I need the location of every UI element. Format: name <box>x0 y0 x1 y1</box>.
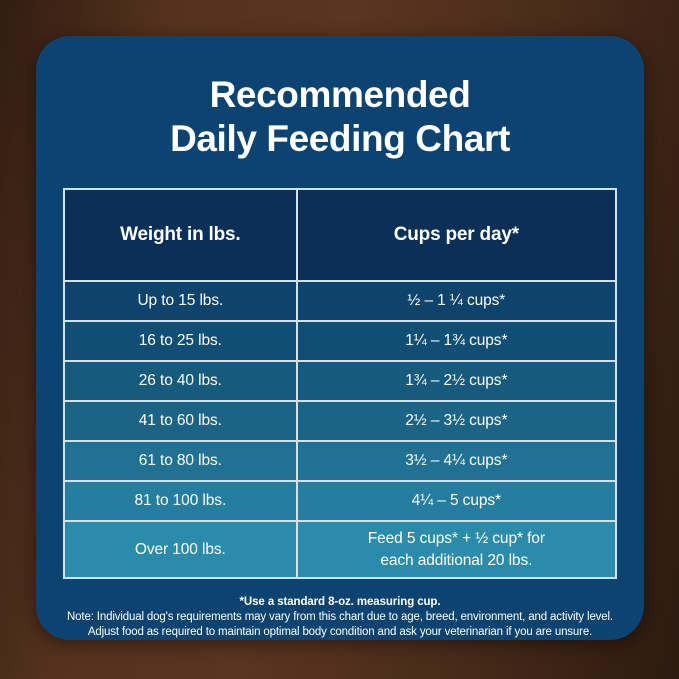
feeding-table: Weight in lbs. Cups per day* Up to 15 lb… <box>63 188 617 579</box>
cell-weight: Over 100 lbs. <box>65 522 298 577</box>
cell-weight: 61 to 80 lbs. <box>65 442 298 482</box>
table-row: Up to 15 lbs. ½ – 1 ¼ cups* <box>65 282 615 322</box>
table-header-row: Weight in lbs. Cups per day* <box>65 190 615 282</box>
table-row: 61 to 80 lbs. 3½ – 4¼ cups* <box>65 442 615 482</box>
cell-cups-line-1: Feed 5 cups* + ½ cup* for <box>368 530 545 547</box>
column-header-weight: Weight in lbs. <box>65 190 298 282</box>
cell-weight: 81 to 100 lbs. <box>65 482 298 522</box>
page-title: Recommended Daily Feeding Chart <box>36 36 644 160</box>
table-row: 41 to 60 lbs. 2½ – 3½ cups* <box>65 402 615 442</box>
column-header-cups: Cups per day* <box>298 190 615 282</box>
title-line-2: Daily Feeding Chart <box>36 118 644 160</box>
cell-cups-line-2: each additional 20 lbs. <box>380 552 532 569</box>
table-row: 81 to 100 lbs. 4¼ – 5 cups* <box>65 482 615 522</box>
cell-cups: 2½ – 3½ cups* <box>298 402 615 442</box>
cell-cups: ½ – 1 ¼ cups* <box>298 282 615 322</box>
cell-weight: 26 to 40 lbs. <box>65 362 298 402</box>
cell-cups: 1¼ – 1¾ cups* <box>298 322 615 362</box>
footnote-note: Note: Individual dog's requirements may … <box>48 611 632 623</box>
footnotes: *Use a standard 8-oz. measuring cup. Not… <box>36 596 644 638</box>
table-row: Over 100 lbs. Feed 5 cups* + ½ cup* for … <box>65 522 615 577</box>
cell-weight: 41 to 60 lbs. <box>65 402 298 442</box>
table-row: 16 to 25 lbs. 1¼ – 1¾ cups* <box>65 322 615 362</box>
cell-cups: 4¼ – 5 cups* <box>298 482 615 522</box>
cell-cups: 3½ – 4¼ cups* <box>298 442 615 482</box>
table-row: 26 to 40 lbs. 1¾ – 2½ cups* <box>65 362 615 402</box>
title-line-1: Recommended <box>36 74 644 116</box>
footnote-adjust: Adjust food as required to maintain opti… <box>48 626 632 638</box>
cell-weight: Up to 15 lbs. <box>65 282 298 322</box>
footnote-measuring-cup: *Use a standard 8-oz. measuring cup. <box>48 596 632 608</box>
cell-cups: Feed 5 cups* + ½ cup* for each additiona… <box>298 522 615 577</box>
feeding-chart-card: Recommended Daily Feeding Chart Weight i… <box>36 36 644 640</box>
cell-weight: 16 to 25 lbs. <box>65 322 298 362</box>
cell-cups: 1¾ – 2½ cups* <box>298 362 615 402</box>
